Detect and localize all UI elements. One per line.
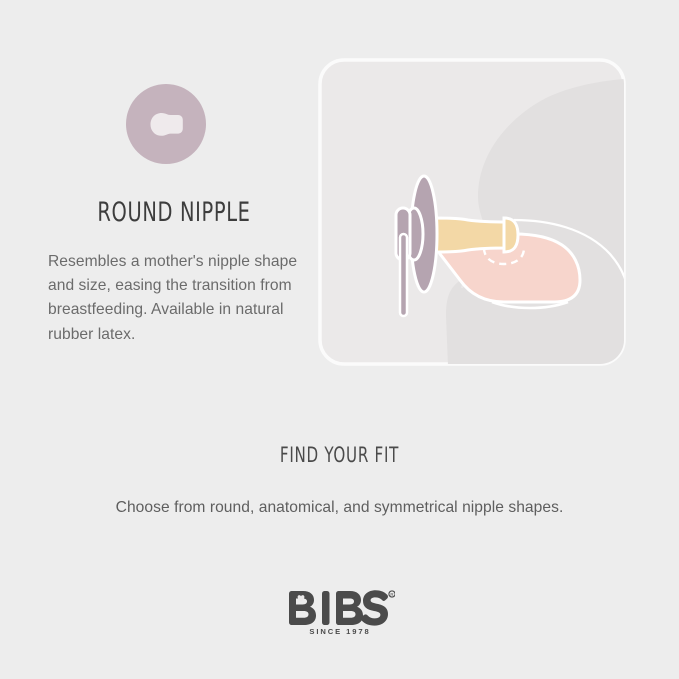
logo-letter-i <box>322 591 330 625</box>
teat-shaft <box>430 218 508 252</box>
pacifier-in-mouth-cross-section-illustration <box>318 58 626 366</box>
find-your-fit-section: FIND YOUR FIT Choose from round, anatomi… <box>0 443 679 519</box>
feature-column: ROUND NIPPLE Resembles a mother's nipple… <box>48 84 300 347</box>
product-feature-infographic: ROUND NIPPLE Resembles a mother's nipple… <box>0 0 679 679</box>
bibs-logo: R SINCE 1978 <box>285 588 395 636</box>
feature-description: Resembles a mother's nipple shape and si… <box>48 250 300 347</box>
find-your-fit-subtitle: Choose from round, anatomical, and symme… <box>0 497 679 519</box>
illustration-panel: Cross-section illustration of a round ni… <box>318 58 626 366</box>
logo-letter-b2 <box>336 591 363 625</box>
round-nipple-shape-icon <box>126 84 206 164</box>
pacifier-stem <box>400 234 407 316</box>
illustration-alt-text: Cross-section illustration of a round ni… <box>318 366 319 367</box>
registered-trademark-letter: R <box>390 592 393 597</box>
find-your-fit-title: FIND YOUR FIT <box>68 443 611 467</box>
logo-letter-s <box>361 590 388 625</box>
feature-title: ROUND NIPPLE <box>73 198 275 228</box>
brand-logo: R SINCE 1978 <box>0 588 679 641</box>
brand-tagline: SINCE 1978 <box>309 627 370 636</box>
teat-bulb <box>504 218 518 252</box>
